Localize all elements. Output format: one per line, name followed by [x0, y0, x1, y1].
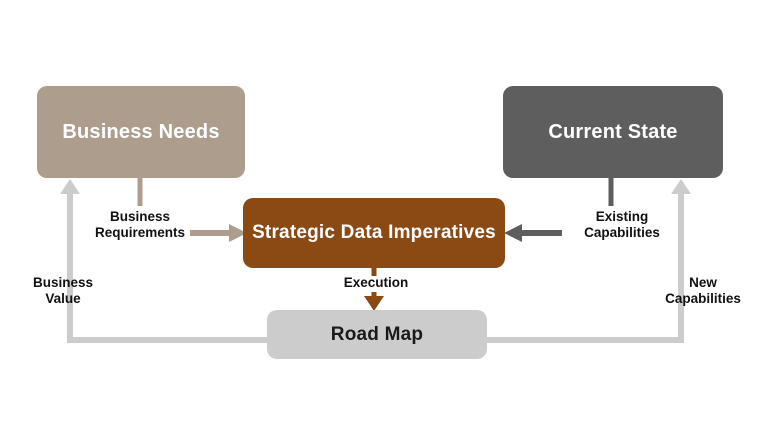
node-current-state[interactable]: Current State [503, 86, 723, 178]
edge-label-execution: Execution [318, 275, 434, 291]
node-business-needs-label: Business Needs [62, 121, 219, 144]
connector-new-capabilities [487, 179, 691, 340]
edge-label-business-value: Business Value [20, 275, 106, 307]
node-road-map-label: Road Map [331, 324, 423, 346]
edge-label-business-requirements: Business Requirements [84, 209, 196, 241]
node-strategic-data-imperatives-label: Strategic Data Imperatives [252, 222, 496, 244]
edge-label-existing-capabilities: Existing Capabilities [566, 209, 678, 241]
diagram-canvas: Business Needs Current State Strategic D… [0, 0, 768, 432]
node-current-state-label: Current State [548, 121, 677, 144]
node-strategic-data-imperatives[interactable]: Strategic Data Imperatives [243, 198, 505, 268]
connector-business-value [60, 179, 267, 340]
node-business-needs[interactable]: Business Needs [37, 86, 245, 178]
node-road-map[interactable]: Road Map [267, 310, 487, 359]
edge-label-new-capabilities: New Capabilities [652, 275, 754, 307]
